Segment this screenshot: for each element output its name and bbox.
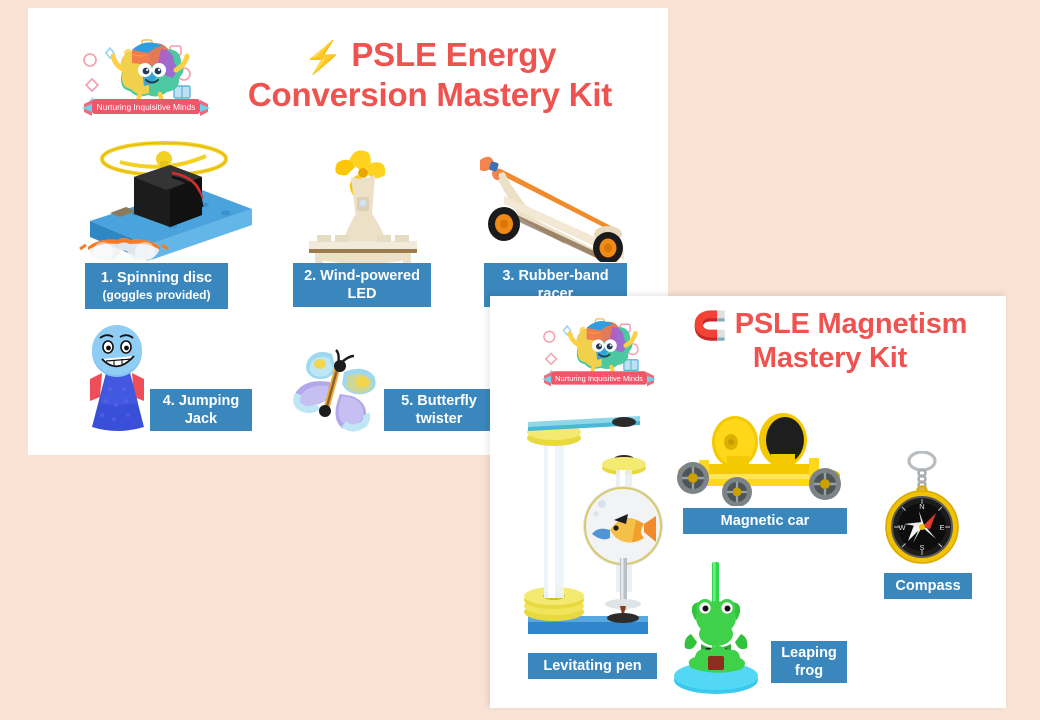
energy-title-line-2: Conversion Mastery Kit	[248, 76, 612, 113]
chip-4-sublabel: Jack	[185, 410, 217, 428]
magnetism-kit-title: 🧲 PSLE Magnetism Mastery Kit	[660, 308, 1000, 376]
brand-mascot-logo-secondary: Nurturing Inquisitive Minds	[528, 310, 670, 390]
brand-mascot-logo: Nurturing Inquisitive Minds	[66, 30, 226, 120]
lightning-bolt-icon: ⚡	[304, 40, 343, 75]
caption-chip-levitating-pen: Levitating pen	[528, 653, 657, 679]
product-image-spinning-disc	[76, 121, 256, 269]
product-image-butterfly-twister	[282, 338, 400, 438]
svg-text:N: N	[919, 502, 924, 511]
product-image-jumping-jack	[72, 323, 162, 435]
caption-chip-butterfly-twister: 5. Butterfly twister	[384, 389, 494, 431]
svg-text:S: S	[919, 543, 924, 552]
chip-3-label: 3. Rubber-band	[502, 267, 608, 285]
chip-5-label: 5. Butterfly	[401, 392, 477, 410]
energy-title-line-1: PSLE Energy	[351, 36, 556, 73]
magnetism-kit-card: Nurturing Inquisitive Minds 🧲 PSLE Magne…	[490, 296, 1006, 708]
product-image-wind-powered-led	[293, 123, 433, 265]
product-image-magnetic-car	[673, 398, 851, 506]
mascot-banner-text-secondary: Nurturing Inquisitive Minds	[555, 374, 643, 383]
chip-m4-sublabel: frog	[795, 662, 823, 680]
magnetism-title-line-2: Mastery Kit	[753, 342, 907, 374]
caption-chip-jumping-jack: 4. Jumping Jack	[150, 389, 252, 431]
chip-4-label: 4. Jumping	[163, 392, 240, 410]
energy-kit-title: ⚡ PSLE Energy Conversion Mastery Kit	[210, 36, 650, 115]
chip-m3-label: Levitating pen	[543, 657, 641, 675]
chip-2-sublabel: LED	[348, 285, 377, 303]
caption-chip-leaping-frog: Leaping frog	[771, 641, 847, 683]
caption-chip-compass: Compass	[884, 573, 972, 599]
product-image-rubber-band-racer	[468, 148, 640, 262]
horseshoe-magnet-icon: 🧲	[693, 310, 727, 341]
product-image-levitating-pen	[510, 408, 670, 644]
chip-m4-label: Leaping	[781, 644, 837, 662]
chip-m1-label: Magnetic car	[721, 512, 810, 530]
chip-1-sublabel: (goggles provided)	[103, 288, 211, 303]
poster-stage: Nurturing Inquisitive Minds ⚡ PSLE Energ…	[0, 0, 1040, 720]
magnetism-title-line-1: PSLE Magnetism	[735, 308, 967, 340]
product-image-leaping-frog	[665, 558, 769, 698]
chip-5-sublabel: twister	[416, 410, 463, 428]
product-image-compass: N S W E	[874, 451, 972, 573]
caption-chip-wind-powered-led: 2. Wind-powered LED	[293, 263, 431, 307]
mascot-banner-text: Nurturing Inquisitive Minds	[97, 102, 196, 112]
caption-chip-magnetic-car: Magnetic car	[683, 508, 847, 534]
chip-2-label: 2. Wind-powered	[304, 267, 420, 285]
caption-chip-spinning-disc: 1. Spinning disc (goggles provided)	[85, 263, 228, 309]
chip-m2-label: Compass	[895, 577, 960, 595]
chip-1-label: 1. Spinning disc	[101, 269, 212, 287]
svg-text:E: E	[939, 523, 944, 532]
svg-text:W: W	[898, 523, 906, 532]
